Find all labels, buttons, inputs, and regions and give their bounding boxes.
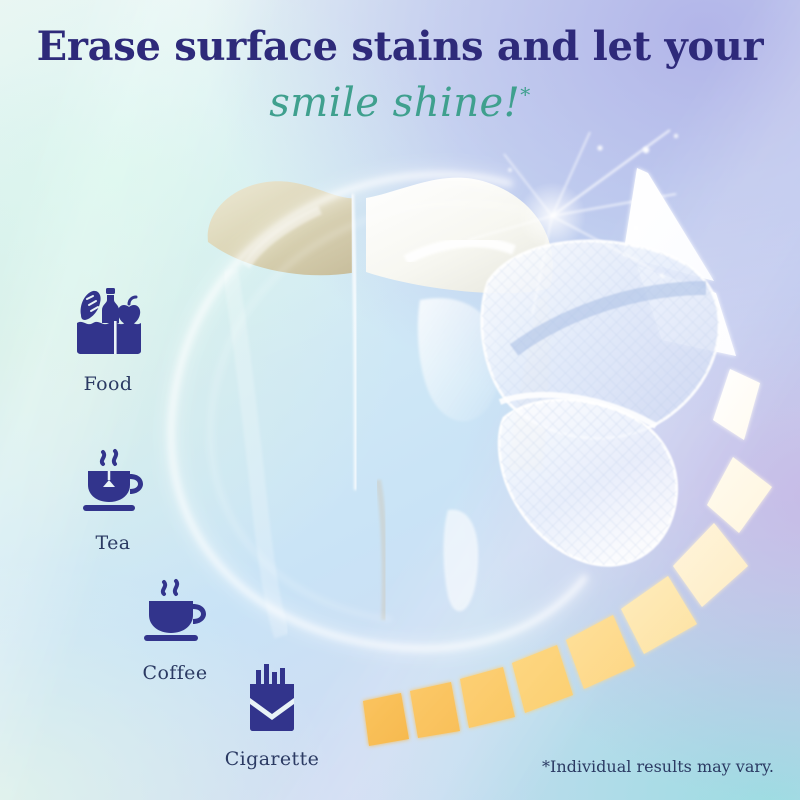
shade-tile [673,523,748,607]
shade-tile [363,693,409,746]
shade-tile [460,667,515,728]
stain-source-food: Food [48,285,168,395]
page-subtitle: smile shine!* [0,80,800,126]
shade-tile [410,682,460,738]
subtitle-asterisk: * [520,83,531,107]
page-title: Erase surface stains and let your [0,26,800,68]
tea-icon [75,448,151,520]
page-subtitle-text: smile shine! [269,80,520,126]
shade-tile [713,369,760,440]
shade-tile [637,266,736,356]
footnote-disclaimer: *Individual results may vary. [542,757,774,776]
stain-source-label: Food [48,373,168,395]
stain-source-cigarette: Cigarette [212,660,332,770]
product-graphic-canvas: Erase surface stains and let your smile … [0,0,800,800]
food-icon [69,285,147,361]
coffee-icon [137,578,213,650]
shade-tile [621,576,697,654]
stain-source-tea: Tea [58,448,168,554]
stain-source-label: Tea [58,532,168,554]
stain-source-label: Cigarette [212,748,332,770]
tooth-illustration [170,150,590,670]
cigarette-icon [236,660,308,736]
shade-tile [623,168,714,281]
shade-tile [707,457,772,533]
